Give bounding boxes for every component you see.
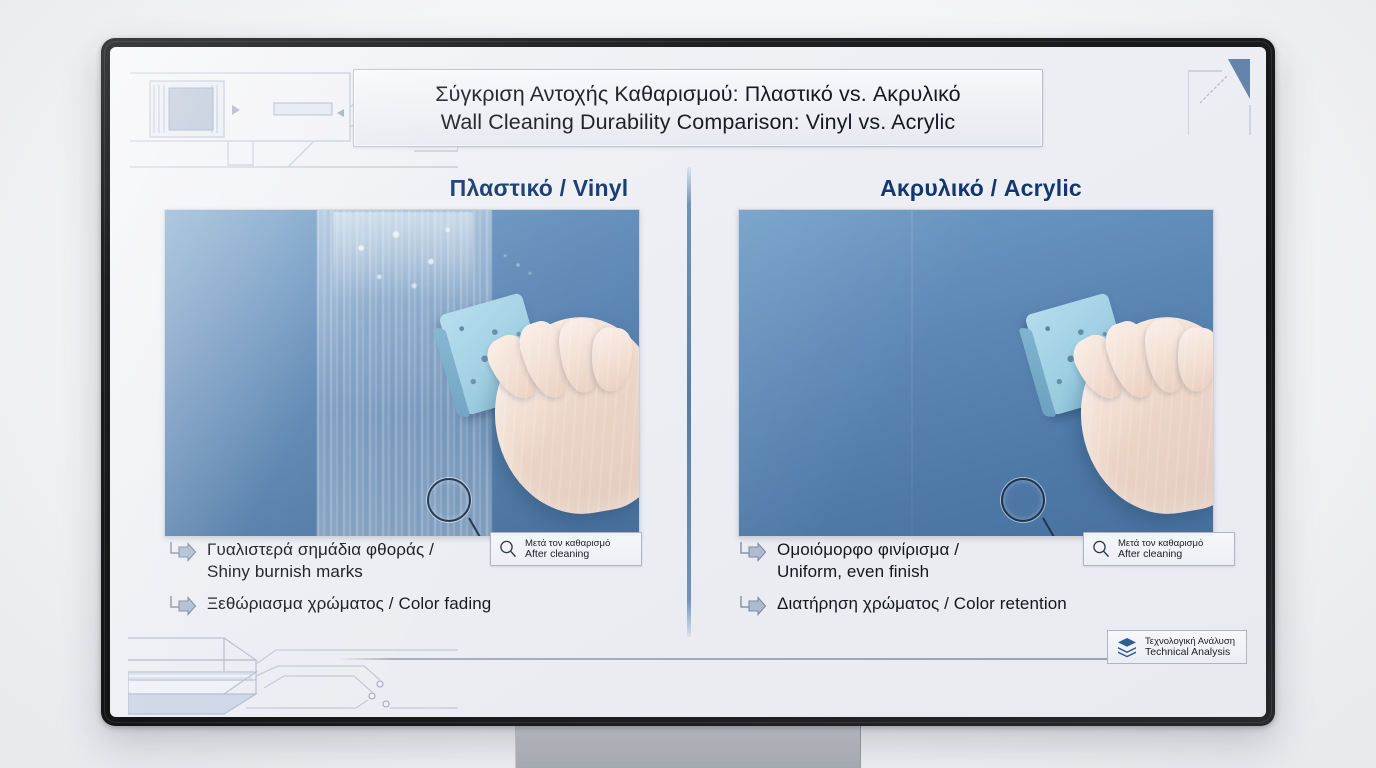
arrow-bullet-icon	[738, 541, 768, 563]
callout-after-cleaning-vinyl: Μετά τον καθαρισμό After cleaning	[490, 532, 642, 566]
layers-icon	[1116, 636, 1138, 658]
list-item-text: Ξεθώριασμα χρώματος / Color fading	[207, 593, 491, 615]
slide: Σύγκριση Αντοχής Καθαρισμού: Πλαστικό vs…	[110, 47, 1266, 717]
corner-accent-triangle-decoration	[1188, 55, 1258, 135]
arrow-bullet-icon	[168, 595, 198, 617]
column-heading-vinyl: Πλαστικό / Vinyl	[298, 175, 780, 202]
magnifier-highlight-circle	[427, 478, 471, 522]
technical-analysis-badge: Τεχνολογική Ανάλυση Technical Analysis	[1107, 630, 1247, 664]
layered-material-cross-section-decoration	[128, 632, 458, 717]
screenshot-stage: Σύγκριση Αντοχής Καθαρισμού: Πλαστικό vs…	[0, 0, 1376, 768]
title-greek: Σύγκριση Αντοχής Καθαρισμού: Πλαστικό vs…	[435, 80, 960, 108]
list-item-text: Γυαλιστερά σημάδια φθοράς / Shiny burnis…	[207, 539, 434, 583]
list-item-line2: Shiny burnish marks	[207, 562, 363, 581]
list-item-line2: Uniform, even finish	[777, 562, 929, 581]
arrow-bullet-icon	[738, 595, 768, 617]
column-divider	[687, 167, 691, 637]
monitor-stand-neck	[515, 724, 861, 768]
list-item: Ξεθώριασμα χρώματος / Color fading	[162, 593, 662, 617]
list-item-line1: Ομοιόμορφο φινίρισμα /	[777, 540, 959, 559]
column-heading-acrylic: Ακρυλικό / Acrylic	[740, 175, 1222, 202]
monitor-screen: Σύγκριση Αντοχής Καθαρισμού: Πλαστικό vs…	[110, 47, 1266, 717]
callout-after-cleaning-acrylic: Μετά τον καθαρισμό After cleaning	[1083, 532, 1235, 566]
spray-droplets	[495, 242, 541, 288]
wall-seam	[911, 210, 913, 536]
magnifier-icon	[498, 539, 518, 559]
magnifier-highlight-circle	[1001, 478, 1045, 522]
foam-residue	[333, 212, 473, 302]
monitor-bezel: Σύγκριση Αντοχής Καθαρισμού: Πλαστικό vs…	[101, 38, 1275, 726]
list-item-text: Ομοιόμορφο φινίρισμα / Uniform, even fin…	[777, 539, 959, 583]
arrow-bullet-icon	[168, 541, 198, 563]
photo-acrylic-wall	[738, 209, 1214, 537]
magnifier-icon	[1091, 539, 1111, 559]
slide-title-plate: Σύγκριση Αντοχής Καθαρισμού: Πλαστικό vs…	[353, 69, 1043, 147]
list-item: Διατήρηση χρώματος / Color retention	[732, 593, 1232, 617]
list-item-line1: Γυαλιστερά σημάδια φθοράς /	[207, 540, 434, 559]
photo-vinyl-wall	[164, 209, 640, 537]
title-english: Wall Cleaning Durability Comparison: Vin…	[441, 108, 955, 136]
callout-english: After cleaning	[1118, 549, 1203, 561]
list-item-text: Διατήρηση χρώματος / Color retention	[777, 593, 1067, 615]
badge-english: Technical Analysis	[1145, 647, 1235, 659]
callout-english: After cleaning	[525, 549, 610, 561]
